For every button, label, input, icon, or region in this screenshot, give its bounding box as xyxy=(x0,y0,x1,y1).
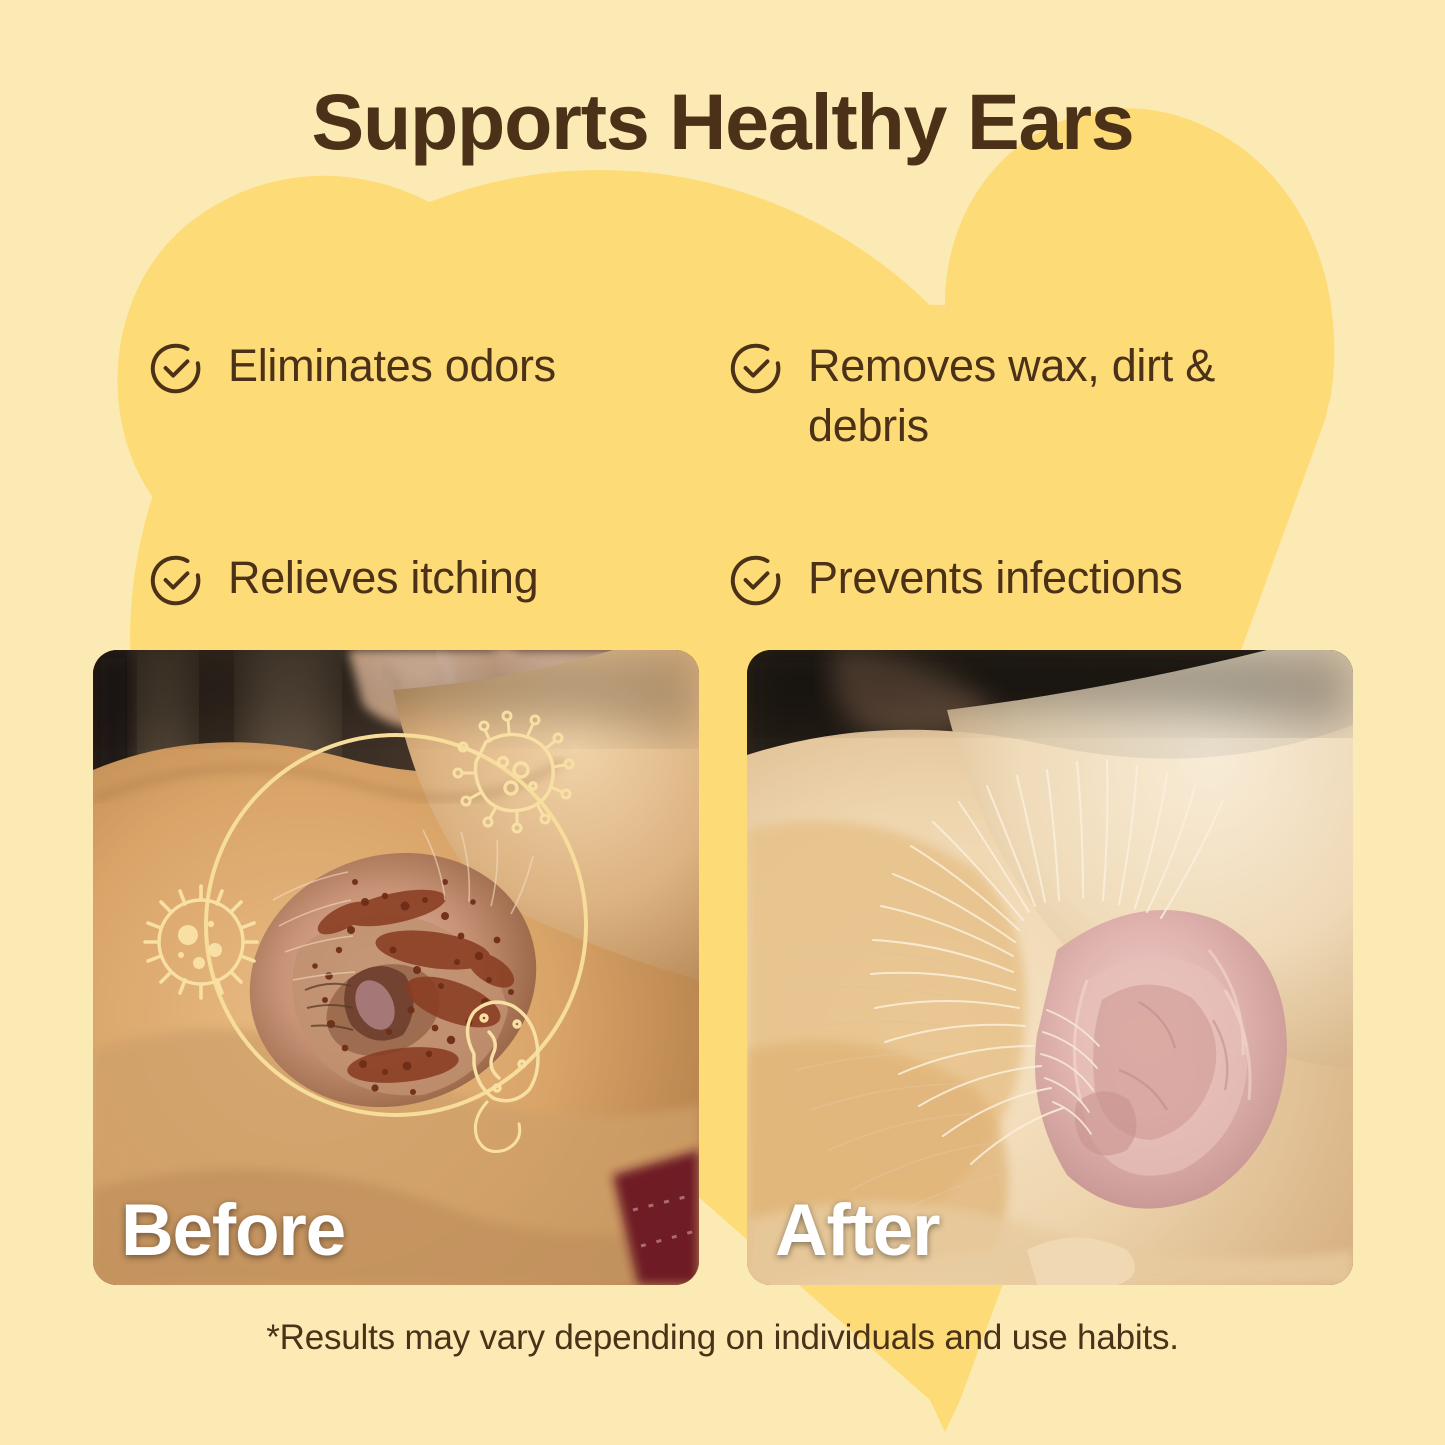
after-label: After xyxy=(775,1194,939,1267)
benefit-label: Relieves itching xyxy=(228,548,538,608)
benefit-label: Prevents infections xyxy=(808,548,1183,608)
before-label: Before xyxy=(121,1194,345,1267)
check-circle-icon xyxy=(728,552,785,609)
check-circle-icon xyxy=(148,552,205,609)
before-after-comparison: Before xyxy=(93,650,1353,1285)
benefit-item-removes-wax-dirt-debris: Removes wax, dirt & debris xyxy=(728,336,1318,456)
benefit-label: Eliminates odors xyxy=(228,336,556,396)
page-title: Supports Healthy Ears xyxy=(0,82,1445,163)
benefit-item-relieves-itching: Relieves itching xyxy=(148,548,728,609)
benefit-item-prevents-infections: Prevents infections xyxy=(728,548,1318,609)
benefit-label: Removes wax, dirt & debris xyxy=(808,336,1318,456)
promo-image-canvas: Supports Healthy Ears Eliminates odors R… xyxy=(0,0,1445,1445)
disclaimer-text: *Results may vary depending on individua… xyxy=(0,1318,1445,1358)
after-photo-panel: After xyxy=(747,650,1353,1285)
benefit-item-eliminates-odors: Eliminates odors xyxy=(148,336,728,456)
check-circle-icon xyxy=(148,340,205,397)
benefits-list: Eliminates odors Removes wax, dirt & deb… xyxy=(148,336,1318,609)
check-circle-icon xyxy=(728,340,785,397)
before-photo-panel: Before xyxy=(93,650,699,1285)
